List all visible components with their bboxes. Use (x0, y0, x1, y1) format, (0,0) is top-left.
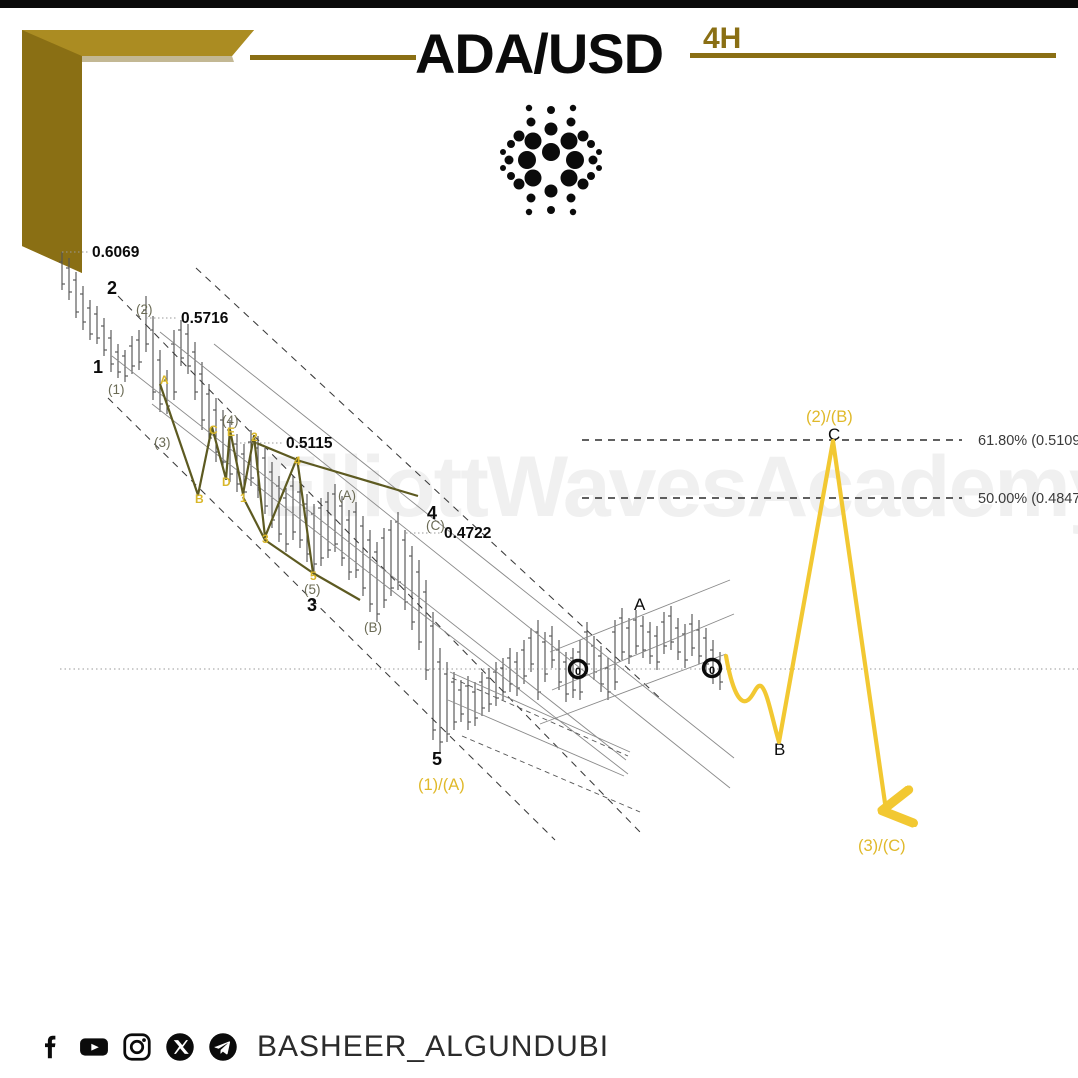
svg-text:0: 0 (709, 665, 715, 677)
svg-text:E: E (227, 425, 235, 439)
price-chart: 61.80% (0.5109) 50.00% (0.4847) (0, 0, 1078, 1078)
svg-text:2: 2 (107, 278, 117, 298)
svg-text:(A): (A) (338, 488, 356, 503)
wave-labels-primary: 2 1 3 4 5 A B C (93, 278, 840, 769)
ascending-channel (448, 580, 734, 776)
svg-text:5: 5 (310, 569, 317, 583)
projection-labels: (1)/(A) (2)/(B) (3)/(C) (418, 408, 906, 855)
label-3-C: (3)/(C) (858, 837, 906, 855)
svg-text:(3): (3) (154, 435, 171, 450)
label-1-A: (1)/(A) (418, 776, 465, 794)
fib-level-50: 50.00% (0.4847) (582, 491, 1078, 507)
social-handle: BASHEER_ALGUNDUBI (257, 1030, 609, 1064)
svg-text:1: 1 (93, 357, 103, 377)
price-label-05115: 0.5115 (286, 435, 333, 452)
price-bars (59, 252, 723, 752)
footer-social-bar: BASHEER_ALGUNDUBI (36, 1030, 609, 1064)
projection-forecast-path (726, 441, 886, 810)
svg-text:3: 3 (262, 532, 269, 546)
svg-text:2: 2 (251, 430, 258, 444)
svg-text:A: A (160, 373, 169, 387)
svg-text:A: A (634, 595, 646, 614)
wave-labels-intermediate: (1) (2) (3) (4) (5) (A) (B) (C) (108, 302, 445, 635)
svg-text:(B): (B) (364, 620, 382, 635)
channel-lines-dashed (108, 268, 662, 840)
svg-text:1: 1 (240, 491, 247, 505)
price-label-06069: 0.6069 (92, 244, 140, 261)
price-label-04722: 0.4722 (444, 525, 491, 542)
svg-text:61.80% (0.5109): 61.80% (0.5109) (978, 433, 1078, 449)
svg-text:C: C (209, 423, 218, 437)
ascending-channel-dashed (452, 678, 640, 812)
telegram-icon[interactable] (208, 1032, 238, 1062)
origin-marker-0: 0 (570, 661, 587, 679)
svg-text:4: 4 (294, 454, 301, 468)
price-label-05716: 0.5716 (181, 310, 229, 327)
svg-text:(5): (5) (304, 582, 321, 597)
svg-text:(1): (1) (108, 382, 125, 397)
facebook-icon[interactable] (36, 1032, 66, 1062)
svg-text:5: 5 (432, 749, 442, 769)
svg-text:0: 0 (575, 666, 581, 678)
label-2-B: (2)/(B) (806, 408, 853, 426)
svg-text:3: 3 (307, 595, 317, 615)
instagram-icon[interactable] (122, 1032, 152, 1062)
svg-text:(2): (2) (136, 302, 153, 317)
youtube-icon[interactable] (79, 1032, 109, 1062)
svg-text:D: D (222, 475, 231, 489)
x-twitter-icon[interactable] (165, 1032, 195, 1062)
svg-text:(C): (C) (426, 518, 445, 533)
chart-page: ADA/USD 4H ElliottWavesAcademy (0, 0, 1078, 1078)
channel-lines-thin (112, 332, 734, 788)
svg-text:B: B (195, 492, 204, 506)
svg-text:50.00% (0.4847): 50.00% (0.4847) (978, 491, 1078, 507)
